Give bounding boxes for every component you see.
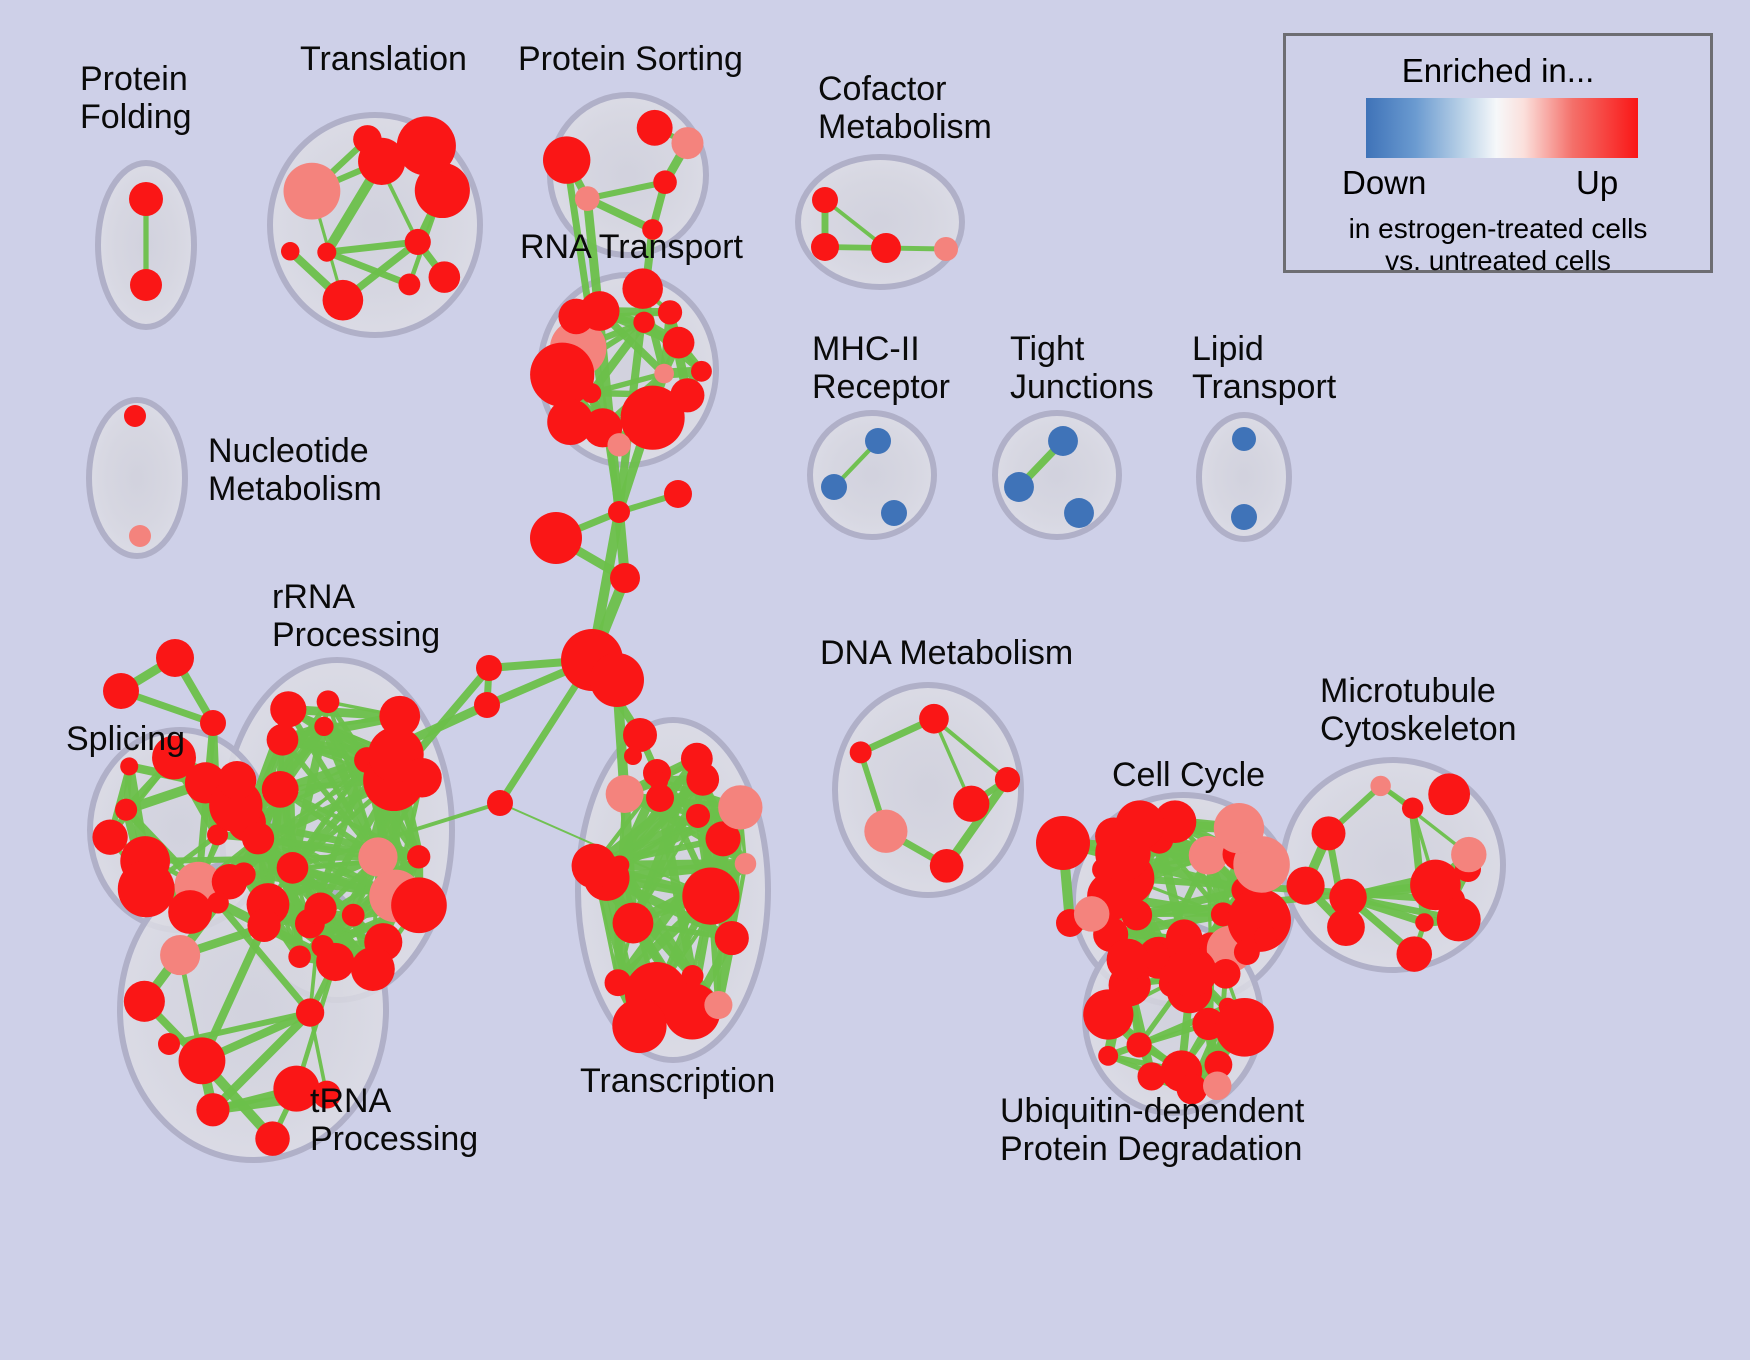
network-node — [129, 525, 151, 547]
cluster-label-lipid-transport: Lipid Transport — [1192, 330, 1336, 406]
network-node — [1254, 926, 1277, 949]
network-node — [612, 999, 666, 1053]
network-node — [1415, 913, 1434, 932]
network-node — [1048, 426, 1078, 456]
network-node — [1370, 776, 1390, 796]
network-node — [120, 757, 138, 775]
network-node — [575, 186, 600, 211]
network-edge — [145, 857, 378, 861]
network-node — [547, 399, 593, 445]
network-node — [288, 946, 311, 969]
cluster-label-tight-junctions: Tight Junctions — [1010, 330, 1154, 406]
network-node — [624, 747, 642, 765]
network-node — [405, 229, 431, 255]
network-node — [671, 127, 703, 159]
legend-subtitle-line2: vs. untreated cells — [1286, 244, 1710, 278]
network-node — [487, 790, 513, 816]
network-node — [130, 269, 162, 301]
cluster-label-splicing: Splicing — [66, 720, 185, 758]
network-node — [281, 242, 300, 261]
network-node — [1234, 939, 1260, 965]
network-node — [314, 717, 333, 736]
network-node — [129, 182, 163, 216]
cluster-label-cell-cycle: Cell Cycle — [1112, 756, 1265, 794]
network-node — [398, 274, 420, 296]
network-node — [397, 116, 456, 175]
network-node — [115, 799, 137, 821]
network-node — [391, 877, 447, 933]
network-node — [543, 136, 590, 183]
network-node — [953, 786, 989, 822]
cluster-label-cofactor-metabolism: Cofactor Metabolism — [818, 70, 992, 146]
network-node — [1437, 897, 1481, 941]
network-node — [156, 639, 194, 677]
cluster-label-trna-processing: tRNA Processing — [310, 1082, 478, 1158]
network-node — [637, 110, 673, 146]
network-node — [317, 243, 336, 262]
network-node — [1327, 908, 1365, 946]
network-node — [590, 653, 644, 707]
network-node — [610, 563, 640, 593]
cluster-label-rrna-processing: rRNA Processing — [272, 578, 440, 654]
network-node — [691, 361, 712, 382]
network-node — [865, 428, 891, 454]
network-node — [1232, 427, 1256, 451]
network-node — [168, 890, 212, 934]
network-node — [607, 433, 630, 456]
network-node — [158, 1033, 180, 1055]
network-node — [681, 743, 713, 775]
network-figure: Protein FoldingTranslationProtein Sortin… — [0, 0, 1750, 1360]
network-node — [207, 892, 229, 914]
network-node — [622, 268, 663, 309]
network-node — [476, 655, 502, 681]
network-node — [1166, 919, 1202, 955]
network-node — [379, 696, 420, 737]
network-node — [664, 480, 692, 508]
network-node — [267, 724, 299, 756]
network-node — [1107, 939, 1149, 981]
network-node — [1004, 472, 1034, 502]
legend-panel: Enriched in... Down Up in estrogen-treat… — [1283, 33, 1713, 273]
network-node — [1092, 858, 1115, 881]
network-node — [179, 1037, 226, 1084]
network-node — [718, 785, 762, 829]
network-node — [864, 810, 907, 853]
network-node — [218, 761, 257, 800]
network-node — [1428, 773, 1470, 815]
network-node — [530, 512, 582, 564]
network-node — [850, 741, 872, 763]
network-node — [1215, 998, 1274, 1057]
legend-color-bar — [1366, 98, 1638, 158]
network-node — [296, 998, 324, 1026]
network-node — [351, 947, 395, 991]
network-node — [558, 299, 594, 335]
network-node — [871, 233, 901, 263]
network-node — [242, 822, 274, 854]
legend-down-label: Down — [1342, 164, 1426, 202]
network-node — [812, 187, 838, 213]
network-node — [284, 163, 341, 220]
network-node — [247, 909, 280, 942]
cluster-label-mhc-ii-receptor: MHC-II Receptor — [812, 330, 950, 406]
network-node — [1402, 798, 1423, 819]
network-node — [1074, 896, 1110, 932]
network-node — [605, 969, 632, 996]
network-node — [1231, 504, 1257, 530]
network-node — [623, 718, 657, 752]
legend-subtitle-line1: in estrogen-treated cells — [1286, 212, 1710, 246]
network-node — [934, 237, 958, 261]
network-node — [103, 673, 139, 709]
cluster-label-rna-transport: RNA Transport — [520, 228, 743, 266]
network-node — [633, 312, 654, 333]
network-node — [304, 893, 336, 925]
network-node — [270, 691, 306, 727]
network-node — [654, 364, 674, 384]
network-node — [1036, 816, 1090, 870]
network-node — [715, 921, 749, 955]
network-node — [811, 233, 839, 261]
network-node — [317, 690, 340, 713]
network-node — [262, 771, 299, 808]
network-node — [881, 500, 907, 526]
network-node — [1286, 867, 1324, 905]
network-node — [1167, 947, 1217, 997]
network-node — [1083, 989, 1133, 1039]
network-node — [323, 280, 364, 321]
network-node — [649, 772, 668, 791]
network-node — [200, 710, 226, 736]
network-node — [930, 849, 964, 883]
legend-up-label: Up — [1576, 164, 1618, 202]
network-node — [1095, 817, 1132, 854]
network-node — [663, 327, 695, 359]
cluster-label-microtubule-cytoskeleton: Microtubule Cytoskeleton — [1320, 672, 1517, 748]
network-node — [653, 170, 677, 194]
network-node — [919, 704, 949, 734]
network-node — [670, 378, 704, 412]
network-node — [1211, 959, 1241, 989]
network-node — [1312, 816, 1346, 850]
network-node — [353, 125, 382, 154]
cluster-label-dna-metabolism: DNA Metabolism — [820, 634, 1073, 672]
network-node — [402, 758, 442, 798]
network-node — [118, 860, 175, 917]
network-node — [407, 845, 430, 868]
network-node — [429, 261, 461, 293]
network-node — [342, 904, 365, 927]
network-node — [995, 767, 1020, 792]
network-node — [1127, 1032, 1152, 1057]
network-node — [124, 981, 165, 1022]
network-node — [608, 501, 630, 523]
network-node — [606, 775, 644, 813]
network-node — [1396, 936, 1432, 972]
network-node — [1137, 1062, 1165, 1090]
network-node — [92, 820, 127, 855]
network-node — [530, 343, 594, 407]
cluster-label-translation: Translation — [300, 40, 467, 78]
network-node — [572, 844, 617, 889]
network-node — [686, 804, 710, 828]
network-node — [1214, 803, 1264, 853]
network-node — [277, 852, 309, 884]
network-node — [255, 1121, 289, 1155]
network-node — [1098, 1046, 1118, 1066]
network-node — [613, 903, 654, 944]
legend-title: Enriched in... — [1286, 52, 1710, 90]
network-node — [160, 935, 200, 975]
network-node — [735, 853, 757, 875]
network-node — [1451, 837, 1486, 872]
network-node — [658, 300, 682, 324]
cluster-label-ubiquitin-degradation: Ubiquitin-dependent Protein Degradation — [1000, 1092, 1304, 1168]
cluster-label-transcription: Transcription — [580, 1062, 775, 1100]
network-node — [1064, 498, 1094, 528]
network-node — [196, 1093, 229, 1126]
network-node — [821, 474, 847, 500]
network-node — [682, 867, 739, 924]
cluster-label-protein-folding: Protein Folding — [80, 60, 192, 136]
network-node — [474, 692, 500, 718]
network-node — [704, 991, 732, 1019]
network-node — [316, 943, 354, 981]
cluster-label-protein-sorting: Protein Sorting — [518, 40, 743, 78]
network-node — [124, 405, 146, 427]
cluster-label-nucleotide-metabolism: Nucleotide Metabolism — [208, 432, 382, 508]
